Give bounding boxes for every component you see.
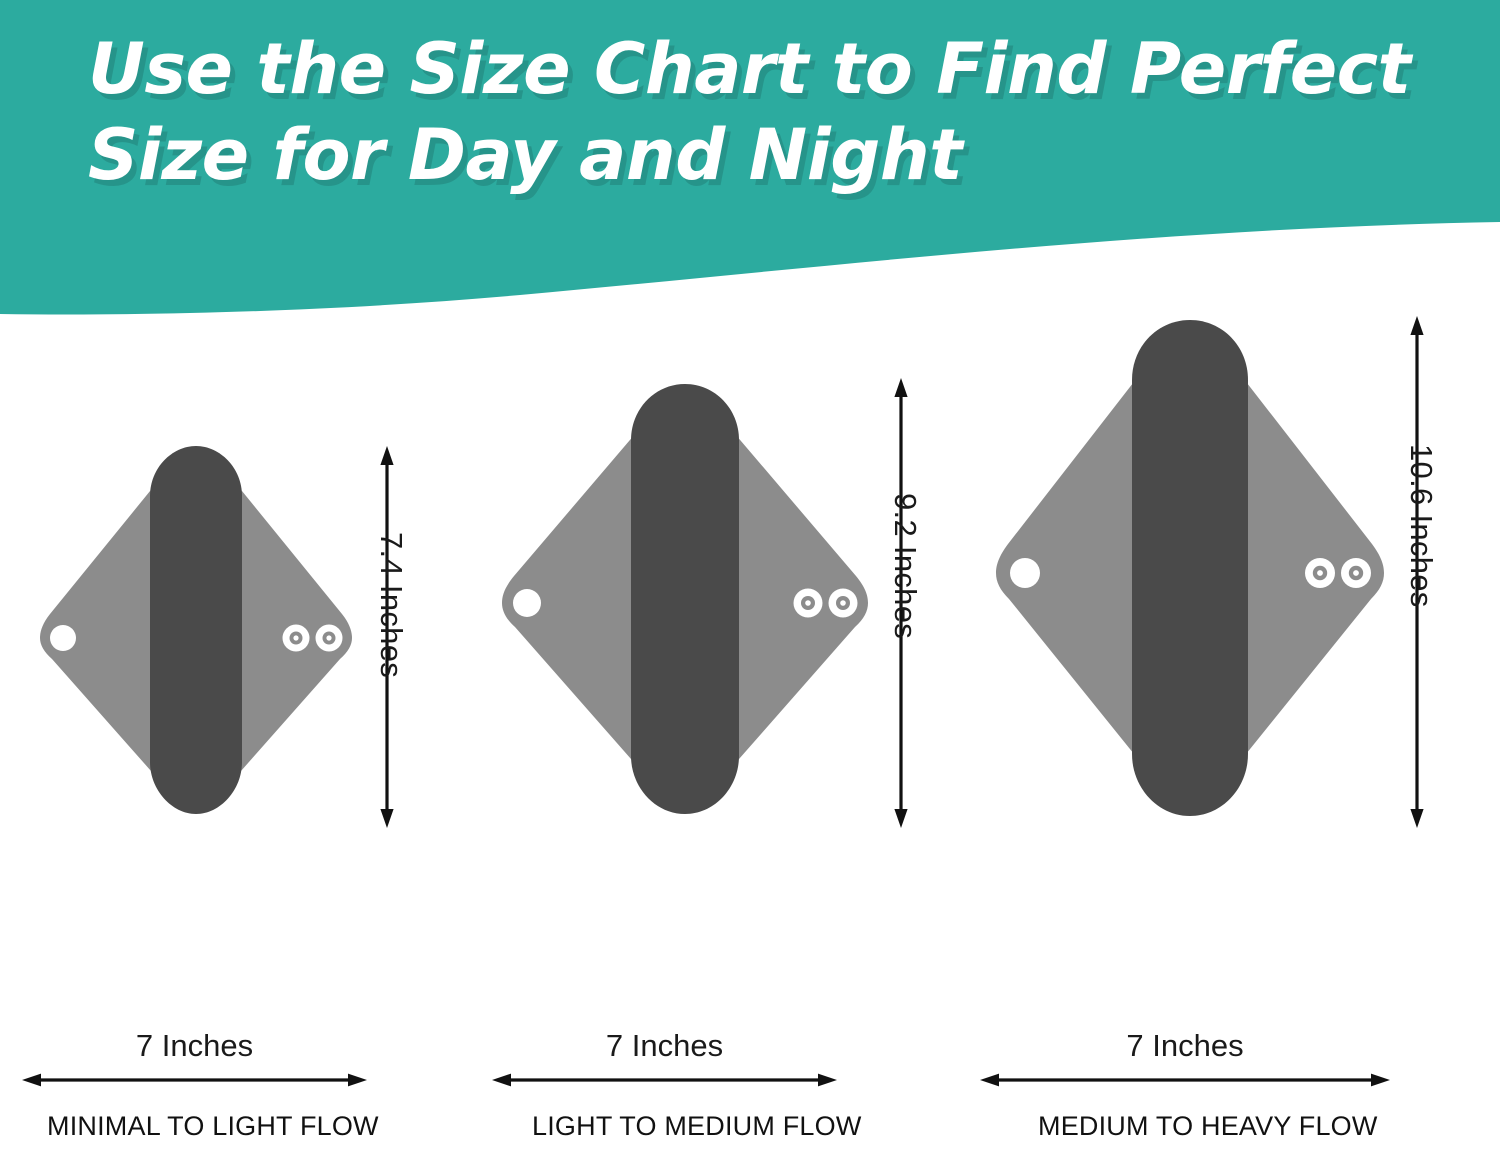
size-chart-figures: 7.4 Inches 7 Inches MINIMAL TO LIGHT FLO… bbox=[0, 330, 1500, 1158]
snap-hole-left bbox=[50, 625, 76, 651]
snap-hole-left bbox=[513, 589, 541, 617]
pad-group-medium: 9.2 Inches 7 Inches LIGHT TO MEDIUM FLOW bbox=[470, 330, 940, 1158]
height-dimension-small: 7.4 Inches bbox=[375, 446, 399, 828]
pad-group-small: 7.4 Inches 7 Inches MINIMAL TO LIGHT FLO… bbox=[0, 330, 470, 1158]
width-dimension-medium: 7 Inches bbox=[492, 1070, 837, 1090]
flow-caption-medium: LIGHT TO MEDIUM FLOW bbox=[532, 1111, 862, 1142]
width-dimension-large: 7 Inches bbox=[980, 1070, 1390, 1090]
header-banner: Use the Size Chart to Find Perfect Size … bbox=[0, 0, 1500, 330]
pad-shape-large bbox=[980, 316, 1400, 828]
width-dimension-label-small: 7 Inches bbox=[22, 1028, 367, 1064]
height-dimension-medium: 9.2 Inches bbox=[889, 378, 913, 828]
width-dimension-small: 7 Inches bbox=[22, 1070, 367, 1090]
width-arrow-large bbox=[980, 1070, 1390, 1090]
flow-caption-large: MEDIUM TO HEAVY FLOW bbox=[1038, 1111, 1378, 1142]
snap-hole-left bbox=[1010, 558, 1040, 588]
width-dimension-label-large: 7 Inches bbox=[980, 1028, 1390, 1064]
pad-illustration-large bbox=[980, 316, 1400, 828]
pad-illustration-small bbox=[26, 438, 366, 828]
page-title: Use the Size Chart to Find Perfect Size … bbox=[88, 26, 1448, 198]
width-dimension-label-medium: 7 Inches bbox=[492, 1028, 837, 1064]
pad-shape-small bbox=[26, 438, 366, 828]
pad-shape-medium bbox=[485, 378, 885, 828]
height-dimension-label-medium: 9.2 Inches bbox=[887, 493, 923, 639]
height-dimension-large: 10.6 Inches bbox=[1405, 316, 1429, 828]
pad-illustration-medium bbox=[485, 378, 885, 828]
height-dimension-label-small: 7.4 Inches bbox=[373, 532, 409, 678]
width-arrow-small bbox=[22, 1070, 367, 1090]
pad-group-large: 10.6 Inches 7 Inches MEDIUM TO HEAVY FLO… bbox=[960, 330, 1500, 1158]
height-dimension-label-large: 10.6 Inches bbox=[1403, 444, 1439, 608]
width-arrow-medium bbox=[492, 1070, 837, 1090]
flow-caption-small: MINIMAL TO LIGHT FLOW bbox=[47, 1111, 379, 1142]
